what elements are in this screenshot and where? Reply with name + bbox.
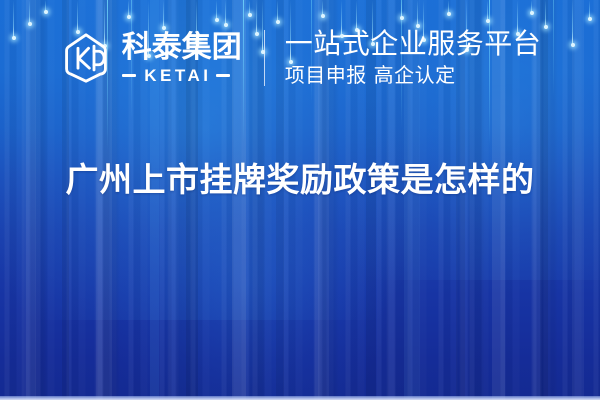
brand-logo[interactable]: 科泰集团 KETAI <box>59 31 242 85</box>
header-divider <box>264 30 265 86</box>
page-title: 广州上市挂牌奖励政策是怎样的 <box>66 162 535 198</box>
ketai-diamond-kd-logo-icon <box>59 31 113 85</box>
dash-left-icon <box>122 74 136 77</box>
brand-name-cn: 科泰集团 <box>122 32 242 63</box>
promo-banner: 科泰集团 KETAI 一站式企业服务平台 项目申报 高企认定 广州上市挂牌奖励政… <box>0 0 600 400</box>
brand-name-latin: KETAI <box>141 67 212 84</box>
banner-header: 科泰集团 KETAI 一站式企业服务平台 项目申报 高企认定 <box>0 0 600 140</box>
tagline-block: 一站式企业服务平台 项目申报 高企认定 <box>285 28 542 88</box>
brand-latin-row: KETAI <box>122 67 242 84</box>
tagline-secondary: 项目申报 高企认定 <box>285 63 542 88</box>
dash-right-icon <box>216 74 230 77</box>
headline-area: 广州上市挂牌奖励政策是怎样的 <box>0 152 600 208</box>
tagline-primary: 一站式企业服务平台 <box>285 28 542 59</box>
